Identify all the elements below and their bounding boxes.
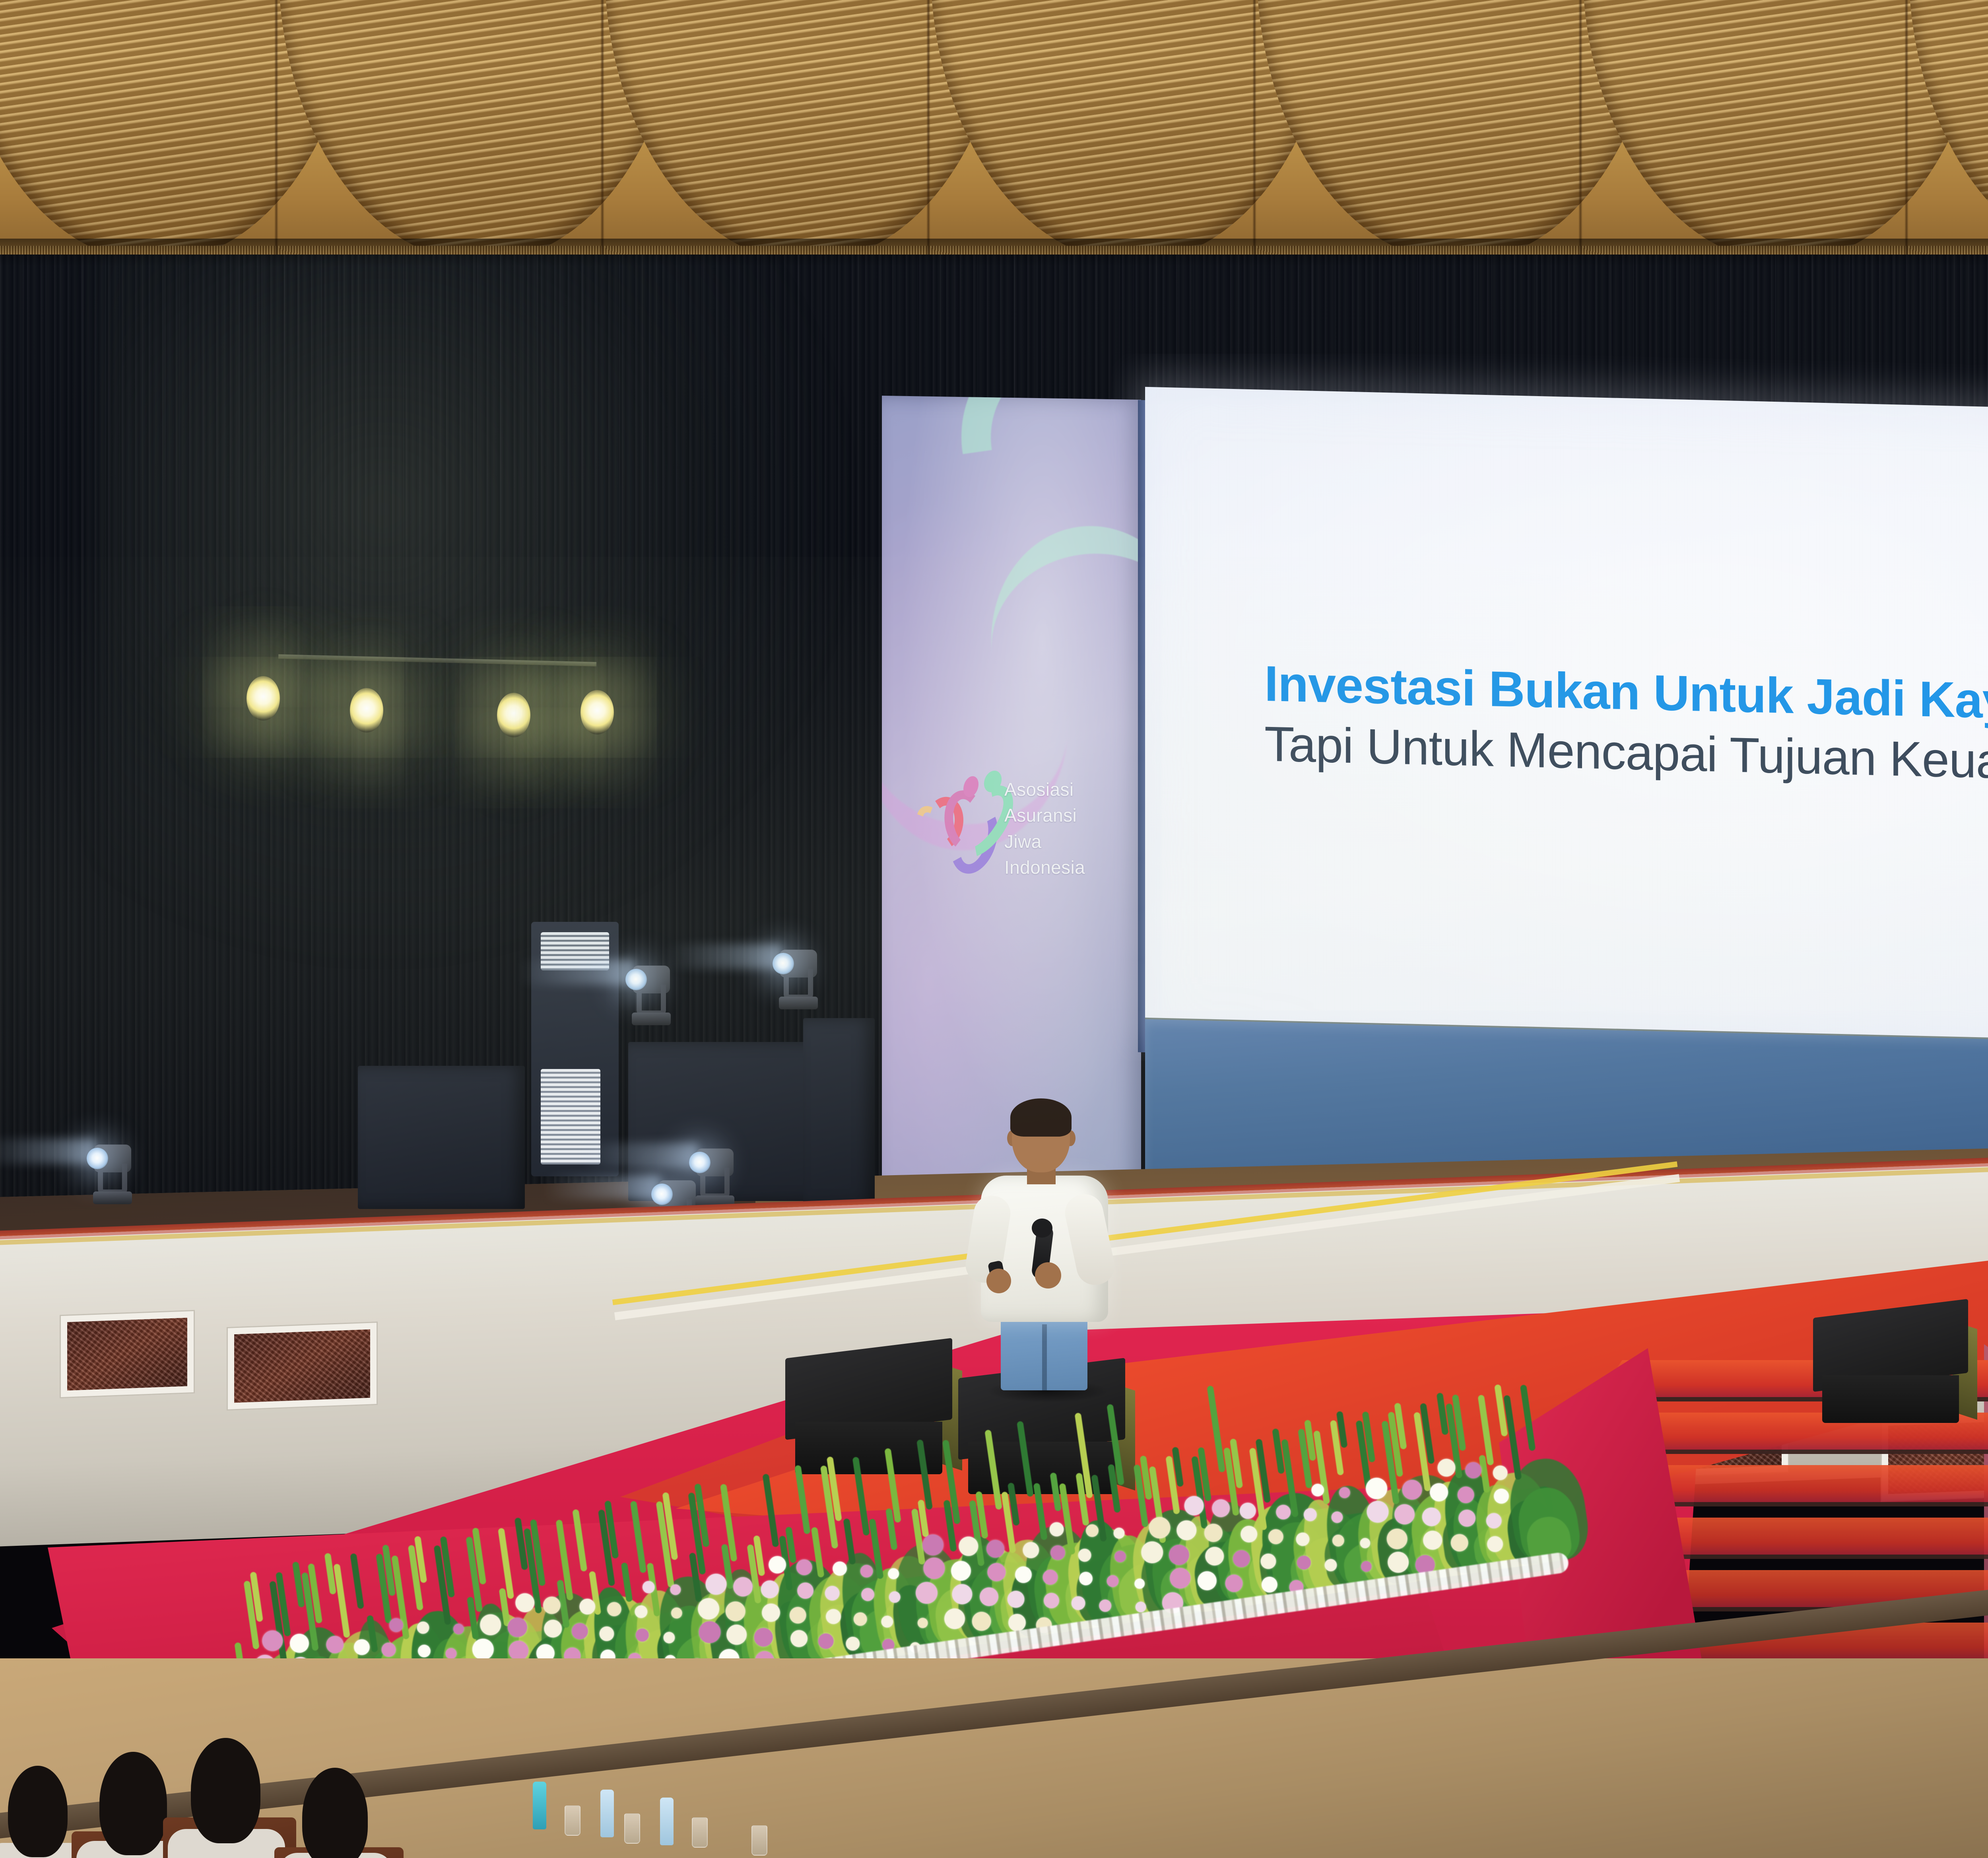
plant-spike [1503,1395,1522,1480]
drinking-glass [624,1813,640,1844]
aaji-name-line1: Asosiasi [1004,777,1116,803]
plant-spike [794,1465,811,1535]
valance-pleat [926,0,930,255]
carved-wood-relief [67,1318,187,1390]
par-light [580,690,614,735]
valance-pleat [274,0,278,255]
drinking-glass [565,1806,580,1836]
draped-riser-left [358,1066,525,1209]
gold-valance-curtain [0,0,1988,255]
plant-spike [984,1430,1002,1510]
moving-light-lens [689,1152,711,1173]
moving-light-lens [87,1148,108,1169]
audience-head [8,1766,68,1857]
plant-spike [1520,1384,1536,1451]
moving-light-yoke [700,1168,730,1199]
moving-head-light [694,1145,735,1205]
plant-spike [350,1553,364,1609]
plant-spike [852,1457,870,1536]
valance-shadow [0,239,1988,266]
plant-spike [630,1501,647,1573]
light-beam [646,944,781,969]
water-bottle [660,1798,674,1845]
plant-spike [1207,1386,1225,1473]
valance-pleat [1252,0,1256,255]
aaji-swirl-icon [911,767,1002,867]
moving-light-base [93,1191,132,1204]
light-beam [0,1139,95,1164]
plant-spike [916,1439,933,1510]
carved-wood-relief [234,1329,370,1403]
stage-monitor-upstage [1813,1308,1968,1428]
audience-head [99,1752,167,1855]
hall-floor [0,1658,1988,1858]
light-beam [525,1175,660,1199]
audience-head [191,1738,260,1843]
curtain-light-sheen [95,207,851,962]
plant-spike [762,1473,779,1547]
draped-riser-right [803,1018,875,1205]
presenter-hair [1010,1098,1072,1137]
carved-wood-panel [60,1310,195,1398]
aaji-name-block: Asosiasi Asuransi Jiwa Indonesia [1004,777,1116,880]
drinking-glass [692,1817,708,1848]
light-beam [499,960,634,985]
plant-spike [1033,1483,1048,1540]
moving-light-yoke [98,1164,127,1195]
water-bottle [600,1790,614,1837]
aaji-logo: Asosiasi Asuransi Jiwa Indonesia [911,758,1117,877]
carved-wood-panel [227,1322,378,1411]
par-light [350,688,383,733]
moving-light-base [632,1013,671,1025]
presenter-hand-left [986,1269,1011,1293]
valance-pleat [600,0,604,255]
plant-spike [334,1564,351,1638]
plant-spike [1477,1395,1494,1465]
stage-presentation-scene: Asosiasi Asuransi Jiwa Indonesia GENCARK… [0,0,1988,1858]
plant-spike [1017,1421,1034,1497]
valance-pleat [1905,0,1908,255]
moving-light-lens [773,953,794,974]
moving-light-yoke [637,985,666,1016]
presenter-hand-right [1035,1262,1061,1289]
moving-head-light [777,946,819,1006]
par-light [247,676,280,721]
drinking-glass [751,1825,767,1856]
moving-light-yoke [784,969,813,1000]
projection-screen: Investasi Bukan Untuk Jadi Kaya, Tapi Un… [1145,387,1988,1061]
plant-spike [572,1509,587,1572]
moving-head-light [630,962,672,1022]
microphone-capsule [1032,1219,1052,1238]
par-light [497,693,530,737]
moving-light-base [779,997,818,1009]
light-beam [563,1143,698,1168]
water-bottle [533,1782,546,1829]
valance-pleat [1578,0,1582,255]
moving-head-light [91,1141,133,1201]
moving-light-lens [625,969,647,990]
aaji-name-line3: Indonesia [1004,855,1116,880]
moving-light-lens [651,1184,673,1205]
plant-spike [843,1518,856,1565]
aaji-name-line2: Asuransi Jiwa [1004,803,1116,855]
